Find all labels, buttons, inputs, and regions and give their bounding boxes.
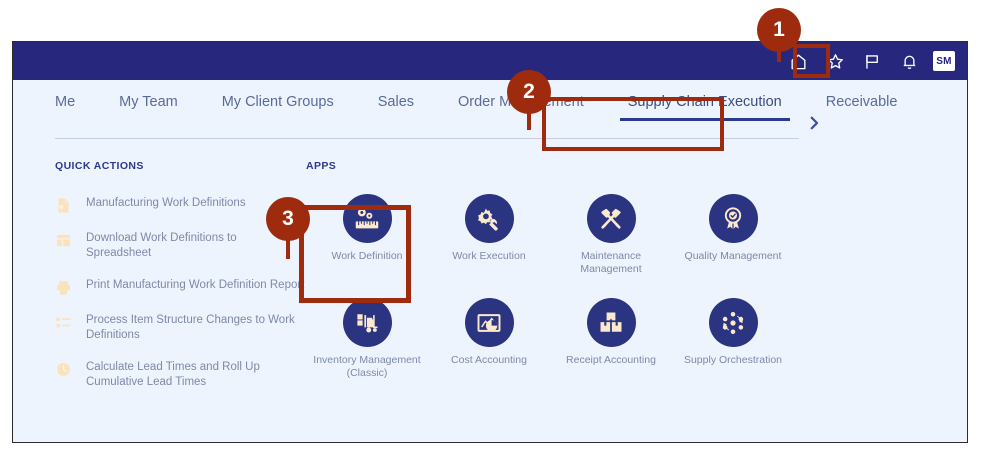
chevron-right-icon[interactable]: [805, 114, 823, 132]
app-work-execution[interactable]: Work Execution: [428, 194, 550, 276]
annotation-badge-2: 2: [507, 70, 551, 114]
app-label: Work Execution: [452, 250, 525, 263]
app-cost-accounting[interactable]: Cost Accounting: [428, 298, 550, 380]
forklift-icon: [343, 298, 392, 347]
app-work-definition[interactable]: Work Definition: [306, 194, 428, 276]
application-panel: SM Me My Team My Client Groups Sales Ord…: [12, 41, 968, 443]
apps-section: APPS: [306, 160, 806, 380]
boxes-icon: [587, 298, 636, 347]
app-label: Inventory Management (Classic): [306, 354, 428, 380]
quick-actions-section: QUICK ACTIONS Manufacturing Work Definit…: [55, 160, 305, 407]
tab-sales[interactable]: Sales: [356, 94, 436, 121]
quick-action-label: Calculate Lead Times and Roll Up Cumulat…: [86, 360, 305, 390]
content-area: QUICK ACTIONS Manufacturing Work Definit…: [13, 140, 967, 443]
app-label: Quality Management: [685, 250, 782, 263]
app-label: Receipt Accounting: [566, 354, 656, 367]
tab-my-client-groups[interactable]: My Client Groups: [200, 94, 356, 121]
bell-icon[interactable]: [896, 48, 922, 74]
award-ribbon-icon: [709, 194, 758, 243]
global-header: SM: [13, 42, 967, 80]
annotation-badge-1: 1: [757, 8, 801, 52]
tab-my-team[interactable]: My Team: [97, 94, 200, 121]
tabs-divider: [55, 138, 799, 139]
avatar[interactable]: SM: [933, 51, 955, 71]
tab-supply-chain-execution[interactable]: Supply Chain Execution: [606, 94, 804, 121]
list-numbers-icon: [55, 314, 72, 331]
app-receipt-accounting[interactable]: Receipt Accounting: [550, 298, 672, 380]
app-quality-management[interactable]: Quality Management: [672, 194, 794, 276]
gears-ruler-icon: [343, 194, 392, 243]
quick-action-label: Process Item Structure Changes to Work D…: [86, 313, 305, 343]
app-supply-orchestration[interactable]: Supply Orchestration: [672, 298, 794, 380]
quick-actions-heading: QUICK ACTIONS: [55, 160, 305, 172]
star-icon[interactable]: [822, 48, 848, 74]
quick-action-label: Print Manufacturing Work Definition Repo…: [86, 278, 304, 293]
home-icon[interactable]: [785, 48, 811, 74]
app-maintenance-management[interactable]: Maintenance Management: [550, 194, 672, 276]
annotation-badge-3: 3: [266, 197, 310, 241]
quick-action-label: Manufacturing Work Definitions: [86, 196, 246, 211]
flag-icon[interactable]: [859, 48, 885, 74]
quick-action-print-work-definition-report[interactable]: Print Manufacturing Work Definition Repo…: [55, 278, 305, 296]
circular-nodes-icon: [709, 298, 758, 347]
app-inventory-management-classic[interactable]: Inventory Management (Classic): [306, 298, 428, 380]
app-label: Supply Orchestration: [684, 354, 782, 367]
quick-action-calculate-lead-times[interactable]: Calculate Lead Times and Roll Up Cumulat…: [55, 360, 305, 390]
clock-icon: [55, 361, 72, 378]
hammer-wrench-icon: [587, 194, 636, 243]
quick-action-download-work-definitions[interactable]: Download Work Definitions to Spreadsheet: [55, 231, 305, 261]
chart-pie-icon: [465, 298, 514, 347]
gear-wrench-icon: [465, 194, 514, 243]
navigation-tabs: Me My Team My Client Groups Sales Order …: [13, 80, 967, 140]
app-label: Cost Accounting: [451, 354, 527, 367]
app-label: Work Definition: [332, 250, 403, 263]
apps-heading: APPS: [306, 160, 806, 172]
printer-icon: [55, 279, 72, 296]
header-icon-group: SM: [785, 48, 955, 74]
gear-document-icon: [55, 197, 72, 214]
apps-grid: Work Definition Work Execution: [306, 194, 806, 380]
quick-action-process-item-structure-changes[interactable]: Process Item Structure Changes to Work D…: [55, 313, 305, 343]
tab-me[interactable]: Me: [55, 94, 97, 121]
app-label: Maintenance Management: [550, 250, 672, 276]
spreadsheet-icon: [55, 232, 72, 249]
quick-action-label: Download Work Definitions to Spreadsheet: [86, 231, 305, 261]
